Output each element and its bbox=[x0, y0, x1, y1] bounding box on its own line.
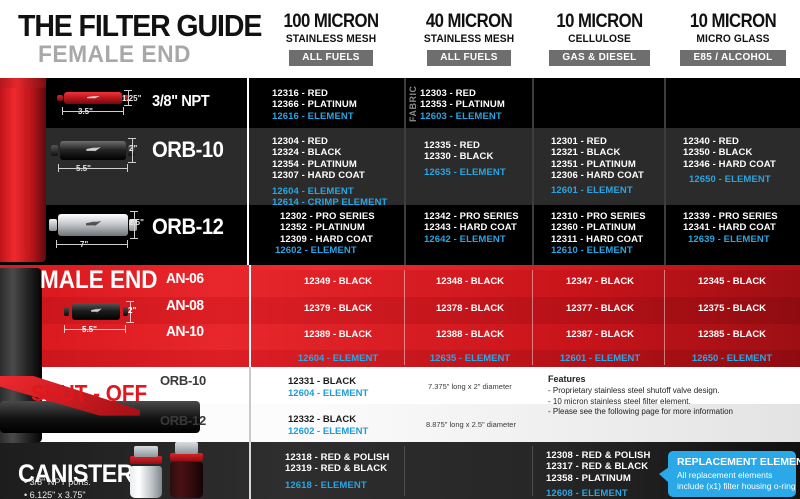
filter-guide-page: THE FILTER GUIDE FEMALE END 100 MICRON S… bbox=[0, 0, 800, 499]
column-micron: 40 MICRON bbox=[413, 12, 526, 32]
part-number-element: 12635 - ELEMENT bbox=[404, 353, 536, 364]
part-number-element: 12650 - ELEMENT bbox=[689, 174, 776, 185]
part-number: 12347 - BLACK bbox=[534, 276, 666, 287]
canister-bullet: • 3/8" NPT ports. bbox=[24, 476, 91, 489]
dimension-line-npt-length bbox=[62, 107, 124, 115]
cell-orb10-col1: 12304 - RED 12324 - BLACK 12354 - PLATIN… bbox=[272, 136, 387, 208]
part-number: 12317 - RED & BLACK bbox=[546, 461, 650, 472]
part-number: 12342 - PRO SERIES bbox=[424, 211, 519, 222]
page-subtitle: FEMALE END bbox=[38, 41, 191, 69]
column-separator-left-shutoff bbox=[249, 367, 251, 442]
part-number: 12311 - HARD COAT bbox=[551, 234, 646, 245]
cell-npt-col1: 12316 - RED 12366 - PLATINUM 12616 - ELE… bbox=[272, 88, 357, 122]
cell-orb10-col3: 12301 - RED 12321 - BLACK 12351 - PLATIN… bbox=[551, 136, 644, 196]
part-number: 12316 - RED bbox=[272, 88, 357, 99]
part-number: 12310 - PRO SERIES bbox=[551, 211, 646, 222]
canister-bullet: • 6.125" x 3.75" bbox=[24, 489, 91, 499]
cell-an08-col1: 12379 - BLACK bbox=[272, 303, 404, 314]
part-number: 12302 - PRO SERIES bbox=[280, 211, 375, 222]
cell-orb12-col2: 12342 - PRO SERIES 12343 - HARD COAT 126… bbox=[424, 211, 519, 245]
part-number-element: 12610 - ELEMENT bbox=[551, 245, 646, 256]
part-number: 12304 - RED bbox=[272, 136, 387, 147]
row-label-an10: AN-10 bbox=[166, 323, 204, 340]
dim-orb12-diameter: 2.5" bbox=[129, 218, 144, 227]
cell-an06-col2: 12348 - BLACK bbox=[404, 276, 536, 287]
row-label-an08: AN-08 bbox=[166, 297, 204, 314]
canister-image-black bbox=[170, 442, 203, 498]
column-micron: 10 MICRON bbox=[542, 12, 657, 32]
part-number: 12366 - PLATINUM bbox=[272, 99, 357, 110]
page-title: THE FILTER GUIDE bbox=[18, 8, 261, 44]
row-label-shutoff-orb12: ORB-12 bbox=[160, 415, 206, 427]
part-number-element: 12639 - ELEMENT bbox=[688, 234, 778, 245]
cell-orb10-col2: 12335 - RED 12330 - BLACK 12635 - ELEMEN… bbox=[424, 140, 506, 178]
section-label-male-end: MALE END bbox=[40, 266, 158, 295]
part-number: 12377 - BLACK bbox=[534, 303, 666, 314]
dim-orb10-length: 5.5" bbox=[76, 164, 91, 173]
column-separator-3 bbox=[664, 78, 666, 265]
cell-orb12-col4: 12339 - PRO SERIES 12341 - HARD COAT 126… bbox=[683, 211, 778, 245]
part-number: 12348 - BLACK bbox=[404, 276, 536, 287]
cell-an08-col4: 12375 - BLACK bbox=[666, 303, 798, 314]
cell-shutoff-orb12-part: 12332 - BLACK bbox=[288, 414, 356, 426]
cell-canister-col3: 12308 - RED & POLISH 12317 - RED & BLACK… bbox=[546, 450, 650, 499]
cell-shutoff-orb12-element: 12602 - ELEMENT bbox=[288, 426, 368, 438]
cell-an10-col1: 12389 - BLACK bbox=[272, 329, 404, 340]
column-separator-1 bbox=[404, 78, 406, 265]
column-material: STAINLESS MESH bbox=[409, 33, 528, 46]
part-number: 12346 - HARD COAT bbox=[683, 159, 776, 170]
replacement-elements-callout: REPLACEMENT ELEMENTS All replacement ele… bbox=[668, 451, 796, 497]
features-title: Features bbox=[548, 374, 733, 384]
column-micron: 100 MICRON bbox=[267, 12, 395, 32]
cell-an10-col3: 12387 - BLACK bbox=[534, 329, 666, 340]
feature-item: - Please see the following page for more… bbox=[548, 407, 733, 418]
canister-image-polish bbox=[130, 446, 162, 498]
part-number: 12378 - BLACK bbox=[404, 303, 536, 314]
filter-image-orb10 bbox=[60, 141, 126, 160]
row-label-an06: AN-06 bbox=[166, 270, 204, 287]
part-number: 12330 - BLACK bbox=[424, 151, 506, 162]
part-number: 12341 - HARD COAT bbox=[683, 222, 778, 233]
column-header-1: 100 MICRON STAINLESS MESH ALL FUELS bbox=[258, 12, 404, 66]
part-number: 12301 - RED bbox=[551, 136, 644, 147]
filter-table: 3.5" 1.25" 3/8" NPT 5.5" 2" ORB-10 bbox=[0, 78, 800, 499]
cell-shutoff-orb10-part: 12331 - BLACK bbox=[288, 376, 356, 388]
column-material: CELLULOSE bbox=[539, 33, 661, 46]
part-number-element: 12616 - ELEMENT bbox=[272, 111, 357, 122]
filter-image-male bbox=[72, 303, 120, 320]
part-number-element: 12601 - ELEMENT bbox=[551, 185, 644, 196]
cell-an06-col3: 12347 - BLACK bbox=[534, 276, 666, 287]
callout-line-1: All replacement elements bbox=[677, 470, 789, 481]
part-number-element: 12635 - ELEMENT bbox=[424, 167, 506, 178]
cell-male-element-col2: 12635 - ELEMENT bbox=[404, 353, 536, 364]
callout-title: REPLACEMENT ELEMENTS bbox=[677, 456, 789, 468]
column-separator-1-canister bbox=[404, 446, 405, 496]
column-micron: 10 MICRON bbox=[674, 12, 792, 32]
part-number: 12345 - BLACK bbox=[666, 276, 798, 287]
dim-npt-diameter: 1.25" bbox=[122, 94, 141, 103]
part-number: 12343 - HARD COAT bbox=[424, 222, 519, 233]
column-fuel-badge: ALL FUELS bbox=[427, 50, 511, 66]
large-red-filter-image bbox=[0, 82, 46, 262]
part-number-element: 12608 - ELEMENT bbox=[546, 488, 650, 499]
cell-an10-col4: 12385 - BLACK bbox=[666, 329, 798, 340]
cell-an06-col1: 12349 - BLACK bbox=[272, 276, 404, 287]
part-number-element: 12604 - ELEMENT bbox=[272, 186, 387, 197]
cell-orb12-col1: 12302 - PRO SERIES 12352 - PLATINUM 1230… bbox=[275, 211, 375, 257]
dimension-line-orb10-length bbox=[58, 164, 128, 172]
part-number: 12349 - BLACK bbox=[272, 276, 404, 287]
part-number: 12335 - RED bbox=[424, 140, 506, 151]
dim-npt-length: 3.5" bbox=[78, 107, 93, 116]
cell-canister-col1: 12318 - RED & POLISH 12319 - RED & BLACK… bbox=[285, 452, 389, 491]
cell-male-element-col4: 12650 - ELEMENT bbox=[666, 353, 798, 364]
part-number: 12324 - BLACK bbox=[272, 147, 387, 158]
section-label-shut-off: SHUT - OFF bbox=[31, 380, 147, 407]
part-number: 12360 - PLATINUM bbox=[551, 222, 646, 233]
page-header: THE FILTER GUIDE FEMALE END 100 MICRON S… bbox=[0, 0, 800, 78]
part-number-element: 12603 - ELEMENT bbox=[420, 111, 505, 122]
cell-an08-col2: 12378 - BLACK bbox=[404, 303, 536, 314]
part-number-element: 12601 - ELEMENT bbox=[534, 353, 666, 364]
part-number-element: 12618 - ELEMENT bbox=[285, 480, 389, 491]
column-header-3: 10 MICRON CELLULOSE GAS & DIESEL bbox=[534, 12, 665, 66]
part-number: 12319 - RED & BLACK bbox=[285, 463, 389, 474]
features-block: Features - Proprietary stainless steel s… bbox=[548, 374, 733, 418]
cell-an08-col3: 12377 - BLACK bbox=[534, 303, 666, 314]
part-number: 12307 - HARD COAT bbox=[272, 170, 387, 181]
callout-line-2: include (x1) filter housing o-ring bbox=[677, 481, 789, 492]
dim-orb10-diameter: 2" bbox=[129, 144, 137, 153]
cell-shutoff-orb10-dims: 7.375" long x 2" diameter bbox=[428, 382, 512, 391]
filter-image-npt bbox=[64, 92, 122, 104]
dim-male-diameter: 2" bbox=[128, 306, 136, 315]
row-label-npt: 3/8" NPT bbox=[152, 93, 209, 111]
canister-bullets: • 3/8" NPT ports. • 6.125" x 3.75" bbox=[24, 476, 91, 499]
cell-an06-col4: 12345 - BLACK bbox=[666, 276, 798, 287]
part-number: 12388 - BLACK bbox=[404, 329, 536, 340]
column-separator-2 bbox=[532, 78, 534, 265]
part-number: 12354 - PLATINUM bbox=[272, 159, 387, 170]
part-number: 12387 - BLACK bbox=[534, 329, 666, 340]
part-number: 12389 - BLACK bbox=[272, 329, 404, 340]
dim-orb12-length: 7" bbox=[80, 240, 88, 249]
part-number: 12358 - PLATINUM bbox=[546, 473, 650, 484]
column-fuel-badge: GAS & DIESEL bbox=[549, 50, 649, 66]
feature-item: - Proprietary stainless steel shutoff va… bbox=[548, 386, 733, 397]
part-number-element: 12604 - ELEMENT bbox=[272, 353, 404, 364]
column-separator-2-canister bbox=[532, 446, 533, 496]
cell-male-element-col3: 12601 - ELEMENT bbox=[534, 353, 666, 364]
column-fuel-badge: ALL FUELS bbox=[289, 50, 373, 66]
part-number-element: 12602 - ELEMENT bbox=[275, 245, 375, 256]
dim-male-length: 5.5" bbox=[82, 325, 97, 334]
part-number: 12308 - RED & POLISH bbox=[546, 450, 650, 461]
part-number-element: 12614 - CRIMP ELEMENT bbox=[272, 197, 387, 208]
feature-item: - 10 micron stainless steel filter eleme… bbox=[548, 397, 733, 408]
cell-shutoff-orb10-element: 12604 - ELEMENT bbox=[288, 388, 368, 400]
column-fuel-badge: E85 / ALCOHOL bbox=[680, 50, 785, 66]
cell-npt-col2: 12303 - RED 12353 - PLATINUM 12603 - ELE… bbox=[420, 88, 505, 122]
column-header-2: 40 MICRON STAINLESS MESH ALL FUELS bbox=[405, 12, 533, 66]
part-number: 12339 - PRO SERIES bbox=[683, 211, 778, 222]
column-header-4: 10 MICRON MICRO GLASS E85 / ALCOHOL bbox=[666, 12, 800, 66]
column-separator-left-canister bbox=[249, 442, 251, 499]
cell-orb10-col4: 12340 - RED 12350 - BLACK 12346 - HARD C… bbox=[683, 136, 776, 186]
part-number: 12318 - RED & POLISH bbox=[285, 452, 389, 463]
column-material: STAINLESS MESH bbox=[263, 33, 399, 46]
part-number: 12352 - PLATINUM bbox=[280, 222, 375, 233]
part-number: 12353 - PLATINUM bbox=[420, 99, 505, 110]
row-label-orb10: ORB-10 bbox=[152, 137, 223, 163]
part-number: 12379 - BLACK bbox=[272, 303, 404, 314]
part-number: 12351 - PLATINUM bbox=[551, 159, 644, 170]
part-number: 12321 - BLACK bbox=[551, 147, 644, 158]
part-number: 12306 - HARD COAT bbox=[551, 170, 644, 181]
part-number: 12340 - RED bbox=[683, 136, 776, 147]
filter-image-orb12 bbox=[58, 214, 128, 236]
part-number-element: 12650 - ELEMENT bbox=[666, 353, 798, 364]
row-label-shutoff-orb10: ORB-10 bbox=[160, 375, 206, 387]
part-number: 12375 - BLACK bbox=[666, 303, 798, 314]
row-label-orb12: ORB-12 bbox=[152, 214, 223, 240]
column-separator-left bbox=[247, 78, 249, 265]
part-number: 12350 - BLACK bbox=[683, 147, 776, 158]
column-separator-left-male bbox=[249, 265, 251, 367]
part-number: 12309 - HARD COAT bbox=[280, 234, 375, 245]
fabric-label: FABRIC bbox=[408, 86, 418, 122]
cell-shutoff-orb12-dims: 8.875" long x 2.5" diameter bbox=[426, 420, 516, 429]
part-number-element: 12642 - ELEMENT bbox=[424, 234, 519, 245]
cell-an10-col2: 12388 - BLACK bbox=[404, 329, 536, 340]
cell-orb12-col3: 12310 - PRO SERIES 12360 - PLATINUM 1231… bbox=[551, 211, 646, 257]
part-number: 12303 - RED bbox=[420, 88, 505, 99]
part-number: 12385 - BLACK bbox=[666, 329, 798, 340]
cell-male-element-col1: 12604 - ELEMENT bbox=[272, 353, 404, 364]
dimension-line-orb12-length bbox=[56, 240, 128, 248]
column-material: MICRO GLASS bbox=[671, 33, 796, 46]
